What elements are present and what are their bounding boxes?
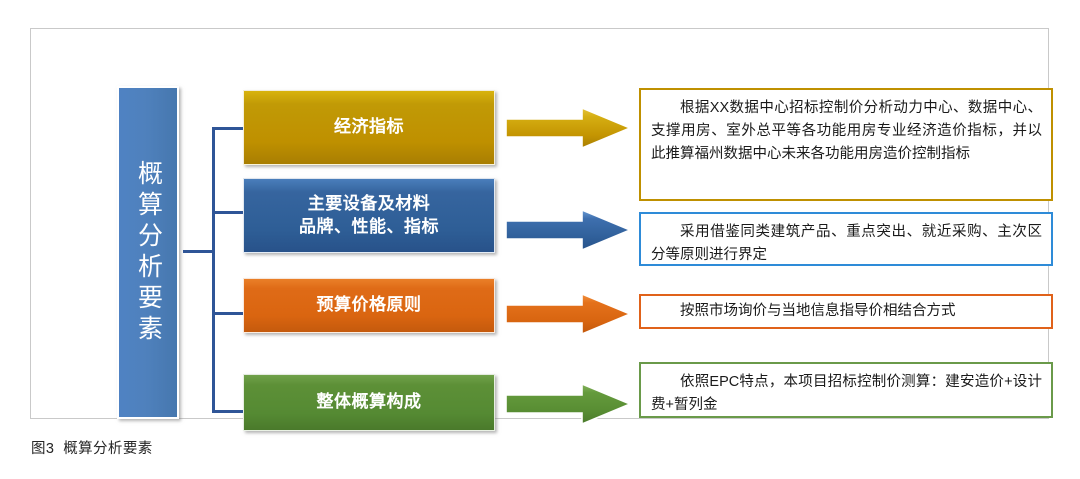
callout-text-2: 采用借鉴同类建筑产品、重点突出、就近采购、主次区分等原则进行界定 xyxy=(651,224,1042,263)
block-arrow-right-icon-3 xyxy=(504,291,632,337)
callout-overall-budget-composition: 依照EPC特点，本项目招标控制价测算：建安造价+设计费+暂列金 xyxy=(639,362,1053,418)
callout-equipment-materials: 采用借鉴同类建筑产品、重点突出、就近采购、主次区分等原则进行界定 xyxy=(639,212,1053,266)
category-label-2-line-1: 主要设备及材料 xyxy=(308,194,431,213)
connector-branch-1 xyxy=(212,127,246,130)
connector-branch-4 xyxy=(212,410,246,413)
connector-stem xyxy=(183,250,215,253)
figure-frame: 概算分析要素 经济指标 主要设备及材料 品牌、性能、指标 预算价格原则 整体概算… xyxy=(30,28,1049,419)
category-label-2-line-2: 品牌、性能、指标 xyxy=(299,217,439,236)
callout-text-4: 依照EPC特点，本项目招标控制价测算：建安造价+设计费+暂列金 xyxy=(651,374,1042,413)
category-label-2: 主要设备及材料 品牌、性能、指标 xyxy=(299,193,439,239)
callout-text-3: 按照市场询价与当地信息指导价相结合方式 xyxy=(651,300,956,323)
callout-text-1: 根据XX数据中心招标控制价分析动力中心、数据中心、支撑用房、室外总平等各功能用房… xyxy=(651,100,1042,162)
category-label-4: 整体概算构成 xyxy=(317,391,422,414)
category-box-economic-indicators: 经济指标 xyxy=(243,90,495,165)
category-label-1: 经济指标 xyxy=(334,116,404,139)
block-arrow-right-icon-1 xyxy=(504,105,632,151)
connector-spine xyxy=(212,127,215,413)
category-label-3: 预算价格原则 xyxy=(317,294,422,317)
figure-caption: 图3 概算分析要素 xyxy=(31,437,153,458)
category-box-equipment-materials: 主要设备及材料 品牌、性能、指标 xyxy=(243,178,495,253)
root-node-label: 概算分析要素 xyxy=(136,160,161,346)
category-box-overall-budget-composition: 整体概算构成 xyxy=(243,374,495,431)
category-box-budget-price-principle: 预算价格原则 xyxy=(243,278,495,333)
callout-economic-indicators: 根据XX数据中心招标控制价分析动力中心、数据中心、支撑用房、室外总平等各功能用房… xyxy=(639,88,1053,201)
block-arrow-right-icon-2 xyxy=(504,207,632,253)
callout-budget-price-principle: 按照市场询价与当地信息指导价相结合方式 xyxy=(639,294,1053,329)
connector-branch-3 xyxy=(212,312,246,315)
connector-branch-2 xyxy=(212,211,246,214)
block-arrow-right-icon-4 xyxy=(504,381,632,427)
root-node-concept-analysis: 概算分析要素 xyxy=(117,86,179,419)
